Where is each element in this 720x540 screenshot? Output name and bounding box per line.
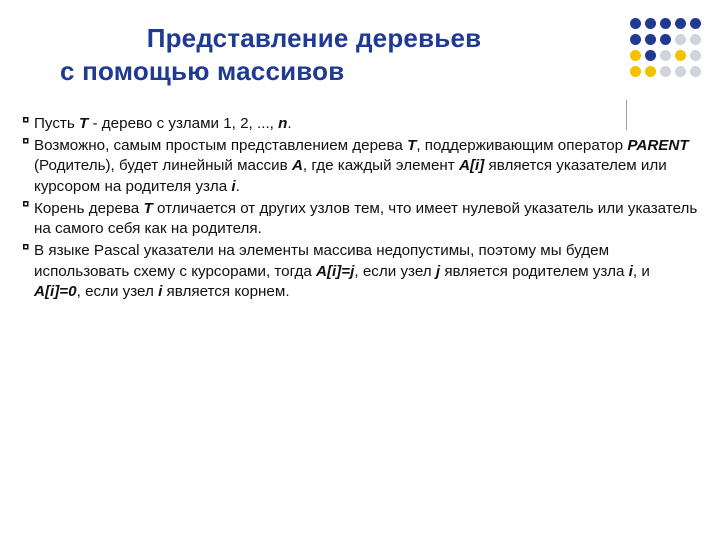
dot-grid-decoration (630, 18, 708, 98)
decoration-dot (675, 18, 686, 29)
text-segment: A[i]=0 (34, 283, 77, 300)
decoration-dot (660, 18, 671, 29)
decoration-dot (645, 50, 656, 61)
decoration-dot (630, 18, 641, 29)
text-segment: - дерево с узлами 1, 2, ..., (88, 115, 278, 132)
page-title-line-2: с помощью массивов (24, 55, 604, 88)
decoration-dot (630, 34, 641, 45)
decoration-dot (630, 50, 641, 61)
decoration-dot (645, 34, 656, 45)
text-segment: A[i] (459, 157, 484, 174)
text-segment: A (292, 157, 303, 174)
text-segment: Возможно, самым простым представлением д… (34, 137, 407, 154)
page-title: Представление деревьев с помощью массиво… (24, 22, 604, 89)
text-segment: , и (633, 263, 650, 280)
decoration-dot (630, 66, 641, 77)
decoration-dot (660, 66, 671, 77)
slide: Представление деревьев с помощью массиво… (0, 0, 720, 540)
decoration-dot (660, 50, 671, 61)
body-paragraph: Возможно, самым простым представлением д… (22, 136, 698, 198)
square-bullet-icon (22, 200, 31, 209)
text-segment: , если узел (354, 263, 435, 280)
body-paragraph: Корень дерева T отличается от других узл… (22, 199, 698, 240)
body-paragraph: В языке Pascal указатели на элементы мас… (22, 241, 698, 303)
decoration-dot (675, 34, 686, 45)
decoration-dot (645, 66, 656, 77)
decoration-dot (690, 18, 701, 29)
text-segment: Пусть (34, 115, 79, 132)
decoration-dot (690, 66, 701, 77)
text-segment: (Родитель), будет линейный массив (34, 157, 292, 174)
square-bullet-icon (22, 243, 31, 252)
body-paragraph: Пусть T - дерево с узлами 1, 2, ..., n. (22, 114, 698, 135)
decoration-dot (690, 34, 701, 45)
page-title-line-1: Представление деревьев (24, 22, 604, 55)
text-segment: A[i]=j (316, 263, 354, 280)
text-segment: является родителем узла (440, 263, 629, 280)
decoration-dot (675, 50, 686, 61)
text-segment: . (236, 178, 240, 195)
text-segment: T (407, 137, 416, 154)
text-segment: , если узел (77, 283, 158, 300)
text-segment: , поддерживающим оператор (416, 137, 627, 154)
decoration-dot (645, 18, 656, 29)
square-bullet-icon (22, 116, 31, 125)
text-segment: n (278, 115, 287, 132)
decoration-dot (675, 66, 686, 77)
text-segment: Корень дерева (34, 200, 143, 217)
decoration-dot (690, 50, 701, 61)
text-segment: является корнем. (162, 283, 289, 300)
text-segment: , где каждый элемент (303, 157, 459, 174)
text-segment: T (79, 115, 88, 132)
decoration-dot (660, 34, 671, 45)
text-segment: T (143, 200, 152, 217)
square-bullet-icon (22, 137, 31, 146)
body-text: Пусть T - дерево с узлами 1, 2, ..., n.В… (22, 114, 698, 304)
text-segment: . (287, 115, 291, 132)
text-segment: PARENT (627, 137, 688, 154)
